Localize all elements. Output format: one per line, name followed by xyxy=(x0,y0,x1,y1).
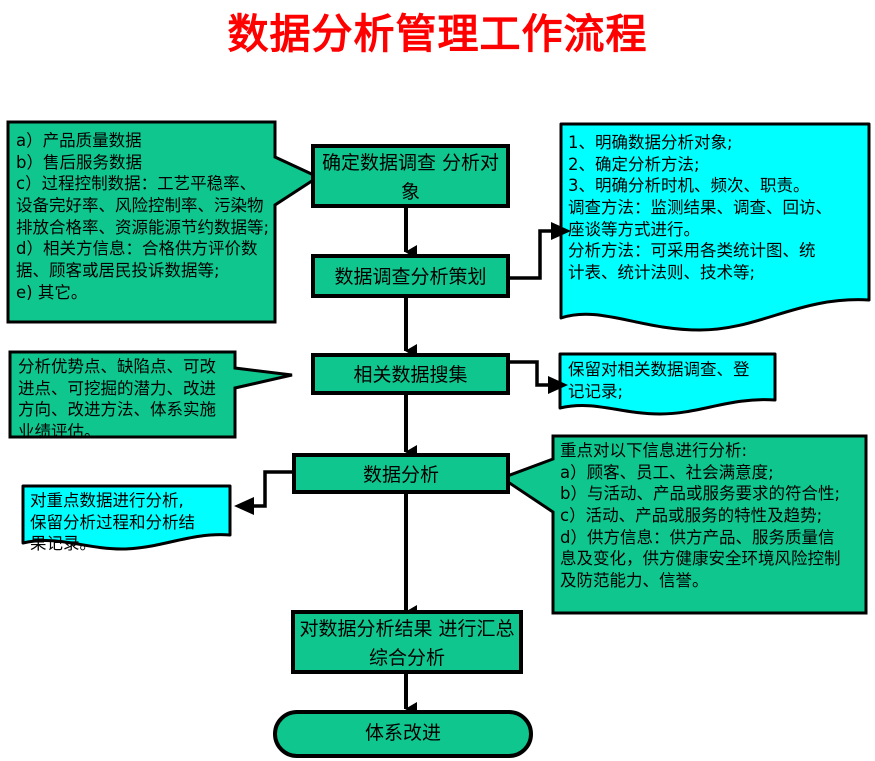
note-record-text: 保留对相关数据调查、登 记记录; xyxy=(568,359,778,402)
connector-n4-note-keydata xyxy=(254,472,294,506)
connector-n4-note-keydata-arrowhead xyxy=(234,497,254,515)
connector-n2-note-plan xyxy=(508,231,551,278)
flow-node-n2-label: 数据调查分析策划 xyxy=(313,263,508,292)
note-analysis-focus-text: 重点对以下信息进行分析: a）顾客、员工、社会满意度; b）与活动、产品或服务要… xyxy=(560,440,866,592)
flowchart-page: 数据分析管理工作流程 xyxy=(0,0,875,761)
flow-node-n3-label: 相关数据搜集 xyxy=(313,361,508,390)
flow-node-n5-label: 对数据分析结果 进行汇总综合分析 xyxy=(293,615,521,674)
note-collect-text: 分析优势点、缺陷点、可改 进点、可挖掘的潜力、改进 方向、改进方法、体系实施 业… xyxy=(18,356,238,443)
flow-node-n4-label: 数据分析 xyxy=(294,461,508,490)
note-inputs-text: a）产品质量数据 b）售后服务数据 c）过程控制数据：工艺平稳率、 设备完好率、… xyxy=(16,130,274,304)
page-title: 数据分析管理工作流程 xyxy=(0,12,875,57)
note-keydata-text: 对重点数据进行分析, 保留分析过程和分析结 果记录。 xyxy=(30,490,230,555)
flow-node-n6-label: 体系改进 xyxy=(275,719,531,748)
connector-n3-note-record xyxy=(508,362,548,385)
note-plan-text: 1、明确数据分析对象; 2、确定分析方法; 3、明确分析时机、频次、职责。 调查… xyxy=(568,132,868,284)
flow-node-n1-label: 确定数据调查 分析对象 xyxy=(313,149,508,208)
